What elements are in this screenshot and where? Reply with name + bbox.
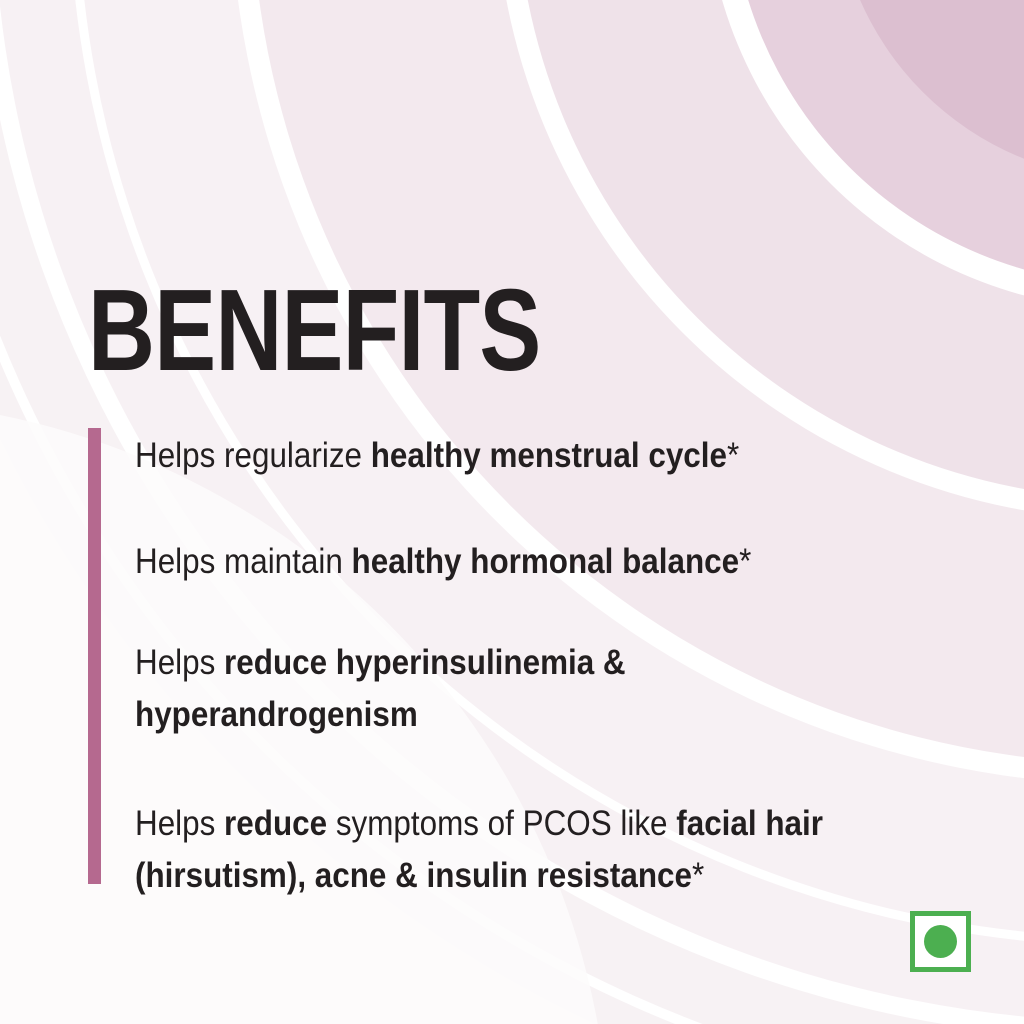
accent-bar <box>88 428 101 884</box>
benefit-item-pcos-symptoms: Helps reduce symptoms of PCOS like facia… <box>135 797 949 901</box>
benefit-item-hyperinsulinemia: Helps reduce hyperinsulinemia & hyperand… <box>135 636 701 740</box>
benefit-item-hormonal-balance: Helps maintain healthy hormonal balance* <box>135 535 962 587</box>
vegetarian-mark-icon <box>910 911 971 972</box>
page-title: BENEFITS <box>88 272 540 388</box>
benefit-item-menstrual-cycle: Helps regularize healthy menstrual cycle… <box>135 429 962 481</box>
vegetarian-dot-icon <box>924 925 957 958</box>
benefits-card: BENEFITS Helps regularize healthy menstr… <box>0 0 1024 1024</box>
